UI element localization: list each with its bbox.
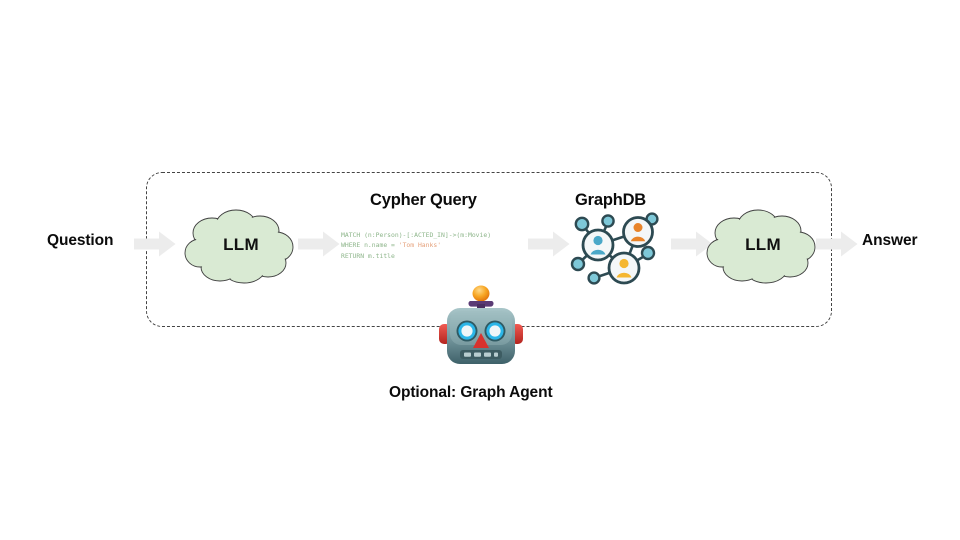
diagram-canvas: Question xyxy=(0,0,960,540)
llm-cloud-2-label: LLM xyxy=(706,207,818,283)
arrow-question-to-llm xyxy=(134,231,176,257)
input-label-question: Question xyxy=(47,232,113,250)
agent-caption: Optional: Graph Agent xyxy=(389,384,553,402)
llm-cloud-1: LLM xyxy=(184,207,296,283)
llm-cloud-2: LLM xyxy=(706,207,818,283)
network-graph-icon xyxy=(568,212,664,286)
stage-heading-cypher-query: Cypher Query xyxy=(370,191,477,210)
robot-icon xyxy=(437,284,525,372)
arrow-llm-to-answer xyxy=(816,231,858,257)
cypher-code-line-1: MATCH (n:Person)-[:ACTED_IN]->(m:Movie) xyxy=(341,231,491,239)
cypher-query-code-block: MATCH (n:Person)-[:ACTED_IN]->(m:Movie) … xyxy=(341,230,527,261)
output-label-answer: Answer xyxy=(862,232,917,250)
cypher-code-line-3: RETURN m.title xyxy=(341,252,395,260)
llm-cloud-1-label: LLM xyxy=(184,207,296,283)
arrow-cypher-to-graphdb xyxy=(528,231,570,257)
cypher-code-line-2: WHERE n.name = 'Tom Hanks' xyxy=(341,241,441,249)
stage-heading-graphdb: GraphDB xyxy=(575,191,646,210)
arrow-llm-to-cypher xyxy=(298,231,340,257)
